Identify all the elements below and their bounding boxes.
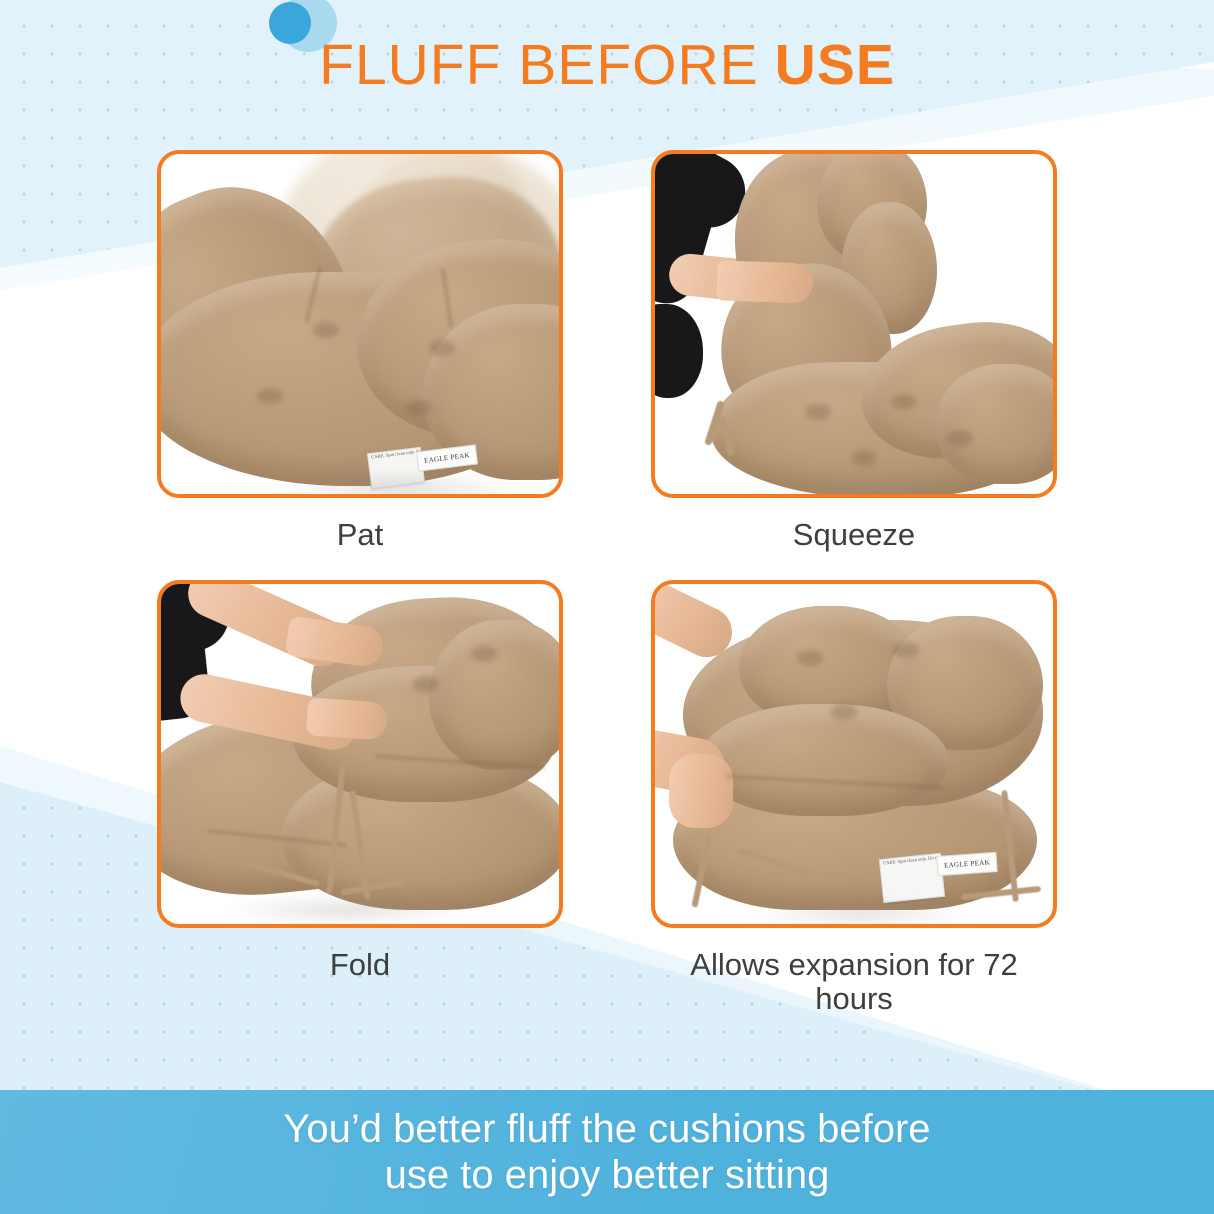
step-fold-photo bbox=[157, 580, 563, 928]
cushion-tuft bbox=[893, 642, 919, 658]
step-expand: CARE: Spot clean only. Do not bleach. EA… bbox=[651, 580, 1057, 1016]
cushion-scene-pat: CARE: Spot clean only. Do not bleach. EA… bbox=[161, 154, 559, 494]
page-title: FLUFF BEFORE USE bbox=[319, 32, 895, 98]
cushion-drop-shadow bbox=[745, 902, 975, 926]
cushion-tuft bbox=[429, 340, 455, 356]
title-accent-text: USE bbox=[775, 32, 895, 98]
cushion-tuft bbox=[405, 400, 431, 416]
step-squeeze-photo bbox=[651, 150, 1057, 498]
title-main-text: FLUFF BEFORE bbox=[319, 32, 759, 98]
hand-pressing bbox=[716, 260, 813, 303]
cushion-top-lobe-front bbox=[699, 704, 949, 816]
cushion-tuft bbox=[831, 704, 857, 720]
header: FLUFF BEFORE USE bbox=[0, 0, 1214, 130]
product-care-tag: CARE: Spot clean only. Do not bleach. bbox=[879, 853, 945, 903]
sleeve-elbow bbox=[651, 304, 703, 398]
footer-message-line1: You’d better fluff the cushions before bbox=[283, 1106, 930, 1152]
fingers-lower bbox=[669, 754, 733, 828]
footer-message-line2: use to enjoy better sitting bbox=[283, 1152, 930, 1198]
cushion-tuft bbox=[891, 394, 917, 410]
cushion-tuft bbox=[947, 430, 973, 446]
steps-row-top: CARE: Spot clean only. Do not bleach. EA… bbox=[0, 150, 1214, 552]
steps-grid: CARE: Spot clean only. Do not bleach. EA… bbox=[0, 150, 1214, 1016]
cushion-tuft bbox=[797, 650, 823, 666]
cushion-tuft bbox=[257, 388, 283, 404]
step-pat: CARE: Spot clean only. Do not bleach. EA… bbox=[157, 150, 563, 552]
step-squeeze-caption: Squeeze bbox=[793, 518, 915, 552]
cushion-tuft bbox=[313, 322, 339, 338]
cushion-tuft bbox=[805, 404, 831, 420]
cushion-scene-fold bbox=[161, 584, 559, 924]
cushion-seat-right bbox=[935, 364, 1057, 484]
cushion-drop-shadow bbox=[281, 472, 521, 498]
footer-banner: You’d better fluff the cushions before u… bbox=[0, 1090, 1214, 1214]
step-pat-caption: Pat bbox=[337, 518, 384, 552]
step-squeeze: Squeeze bbox=[651, 150, 1057, 552]
hand-lower bbox=[306, 697, 388, 740]
step-fold: Fold bbox=[157, 580, 563, 1016]
cushion-tuft bbox=[851, 450, 877, 466]
cushion-drop-shadow bbox=[221, 896, 471, 924]
step-fold-caption: Fold bbox=[330, 948, 390, 982]
cushion-folded-right bbox=[429, 620, 563, 770]
cushion-tuft bbox=[471, 646, 497, 662]
step-pat-photo: CARE: Spot clean only. Do not bleach. EA… bbox=[157, 150, 563, 498]
infographic-canvas: FLUFF BEFORE USE bbox=[0, 0, 1214, 1214]
footer-message: You’d better fluff the cushions before u… bbox=[283, 1106, 930, 1199]
steps-row-bottom: Fold bbox=[0, 580, 1214, 1016]
cushion-drop-shadow bbox=[765, 476, 995, 498]
step-expand-caption: Allows expansion for 72 hours bbox=[651, 948, 1057, 1016]
cushion-scene-squeeze bbox=[655, 154, 1053, 494]
step-expand-photo: CARE: Spot clean only. Do not bleach. EA… bbox=[651, 580, 1057, 928]
cushion-scene-expand: CARE: Spot clean only. Do not bleach. EA… bbox=[655, 584, 1053, 924]
cushion-tuft bbox=[413, 676, 439, 692]
circle-decoration-front-icon bbox=[269, 2, 311, 44]
